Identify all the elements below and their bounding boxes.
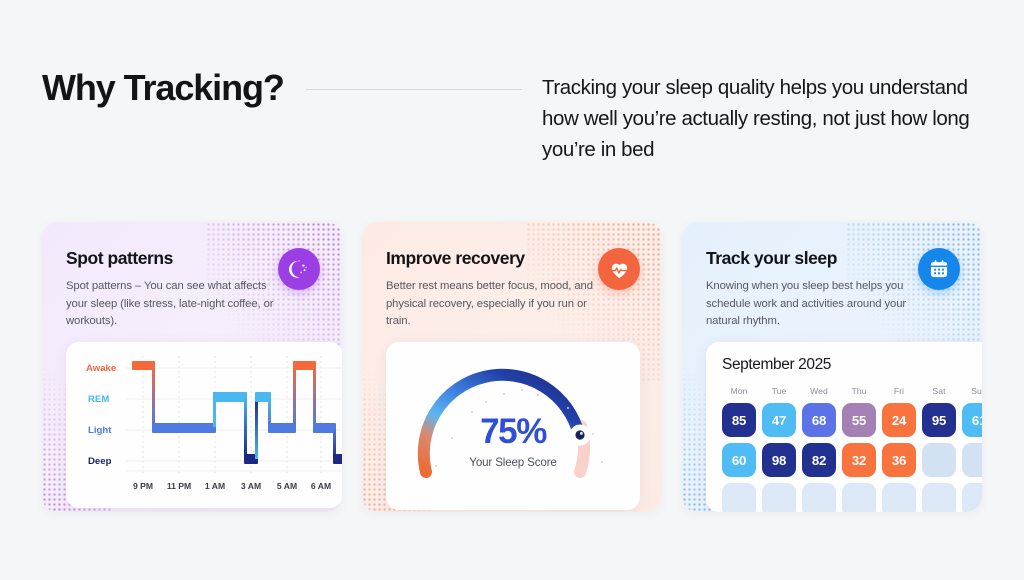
card-title: Improve recovery bbox=[386, 248, 601, 269]
title-row: Why Tracking? bbox=[42, 68, 522, 108]
calendar-month-label: September 2025 bbox=[722, 356, 982, 374]
calendar-dow-thu: Thu bbox=[842, 386, 876, 397]
stage-label-light: Light bbox=[88, 425, 112, 436]
page-root: Why Tracking? Tracking your sleep qualit… bbox=[0, 0, 1024, 580]
calendar-empty-cell bbox=[962, 443, 982, 477]
page-title: Why Tracking? bbox=[42, 68, 284, 108]
calendar-day-cell[interactable]: 85 bbox=[722, 403, 756, 437]
calendar-day-cell[interactable]: 47 bbox=[762, 403, 796, 437]
calendar-day-cell[interactable]: 61 bbox=[962, 403, 982, 437]
page-header: Why Tracking? Tracking your sleep qualit… bbox=[0, 0, 1024, 200]
svg-text:3 AM: 3 AM bbox=[241, 481, 261, 491]
hypnogram-bands bbox=[132, 361, 342, 464]
svg-text:5 AM: 5 AM bbox=[277, 481, 297, 491]
calendar-grid: MonTueWedThuFriSatSun8547685524956160988… bbox=[722, 386, 982, 512]
svg-text:6 AM: 6 AM bbox=[311, 481, 331, 491]
svg-text:11 PM: 11 PM bbox=[167, 481, 191, 491]
stage-label-awake: Awake bbox=[86, 363, 116, 374]
calendar-icon bbox=[918, 248, 960, 290]
calendar-panel: September 2025 MonTueWedThuFriSatSun8547… bbox=[706, 342, 982, 512]
title-divider bbox=[306, 89, 522, 90]
card-description: Better rest means better focus, mood, an… bbox=[386, 278, 601, 331]
hypnogram-svg: Awake REM Light Deep 9 PM 11 PM 1 AM 3 A… bbox=[66, 342, 342, 508]
moon-stars-icon bbox=[278, 248, 320, 290]
sleep-score-panel: 75% Your Sleep Score bbox=[386, 342, 640, 510]
calendar-empty-cell bbox=[762, 483, 796, 512]
calendar-dow-wed: Wed bbox=[802, 386, 836, 397]
sleep-calendar[interactable]: September 2025 MonTueWedThuFriSatSun8547… bbox=[706, 342, 982, 512]
heart-pulse-icon bbox=[598, 248, 640, 290]
svg-text:9 PM: 9 PM bbox=[133, 481, 153, 491]
calendar-day-cell[interactable]: 68 bbox=[802, 403, 836, 437]
card-description: Spot patterns – You can see what affects… bbox=[66, 278, 281, 331]
card-header-spot-patterns: Spot patterns Spot patterns – You can se… bbox=[66, 248, 281, 331]
sleep-score-gauge[interactable]: 75% Your Sleep Score bbox=[386, 342, 640, 510]
card-description: Knowing when you sleep best helps you sc… bbox=[706, 278, 921, 331]
svg-text:1 AM: 1 AM bbox=[205, 481, 225, 491]
stage-label-rem: REM bbox=[88, 394, 109, 405]
gauge-caption: Your Sleep Score bbox=[386, 456, 640, 469]
card-improve-recovery[interactable]: Improve recovery Better rest means bette… bbox=[362, 222, 662, 512]
stage-label-deep: Deep bbox=[88, 456, 112, 467]
card-track-your-sleep[interactable]: Track your sleep Knowing when you sleep … bbox=[682, 222, 982, 512]
card-title: Track your sleep bbox=[706, 248, 921, 269]
calendar-dow-fri: Fri bbox=[882, 386, 916, 397]
hypnogram-gridlines bbox=[126, 368, 342, 471]
calendar-day-cell[interactable]: 98 bbox=[762, 443, 796, 477]
card-title: Spot patterns bbox=[66, 248, 281, 269]
calendar-day-cell[interactable]: 82 bbox=[802, 443, 836, 477]
calendar-dow-sat: Sat bbox=[922, 386, 956, 397]
calendar-empty-cell bbox=[842, 483, 876, 512]
calendar-empty-cell bbox=[922, 483, 956, 512]
card-spot-patterns[interactable]: Spot patterns Spot patterns – You can se… bbox=[42, 222, 342, 512]
card-header-track-your-sleep: Track your sleep Knowing when you sleep … bbox=[706, 248, 921, 331]
intro-paragraph: Tracking your sleep quality helps you un… bbox=[542, 72, 972, 165]
calendar-day-cell[interactable]: 24 bbox=[882, 403, 916, 437]
hypnogram-panel: Awake REM Light Deep 9 PM 11 PM 1 AM 3 A… bbox=[66, 342, 342, 508]
calendar-empty-cell bbox=[962, 483, 982, 512]
calendar-empty-cell bbox=[802, 483, 836, 512]
gauge-value: 75% bbox=[386, 414, 640, 449]
hypnogram-time-labels: 9 PM 11 PM 1 AM 3 AM 5 AM 6 AM bbox=[133, 481, 331, 491]
sleep-stage-chart[interactable]: Awake REM Light Deep 9 PM 11 PM 1 AM 3 A… bbox=[66, 342, 342, 508]
calendar-empty-cell bbox=[882, 483, 916, 512]
calendar-day-cell[interactable]: 32 bbox=[842, 443, 876, 477]
calendar-day-cell[interactable]: 60 bbox=[722, 443, 756, 477]
feature-cards: Spot patterns Spot patterns – You can se… bbox=[42, 222, 982, 512]
calendar-empty-cell bbox=[922, 443, 956, 477]
calendar-day-cell[interactable]: 36 bbox=[882, 443, 916, 477]
calendar-day-cell[interactable]: 95 bbox=[922, 403, 956, 437]
calendar-day-cell[interactable]: 55 bbox=[842, 403, 876, 437]
calendar-dow-mon: Mon bbox=[722, 386, 756, 397]
calendar-dow-sun: Sun bbox=[962, 386, 982, 397]
calendar-empty-cell bbox=[722, 483, 756, 512]
calendar-dow-tue: Tue bbox=[762, 386, 796, 397]
card-header-improve-recovery: Improve recovery Better rest means bette… bbox=[386, 248, 601, 331]
hypnogram-stage-labels: Awake REM Light Deep bbox=[86, 363, 116, 467]
gauge-readout: 75% Your Sleep Score bbox=[386, 414, 640, 469]
